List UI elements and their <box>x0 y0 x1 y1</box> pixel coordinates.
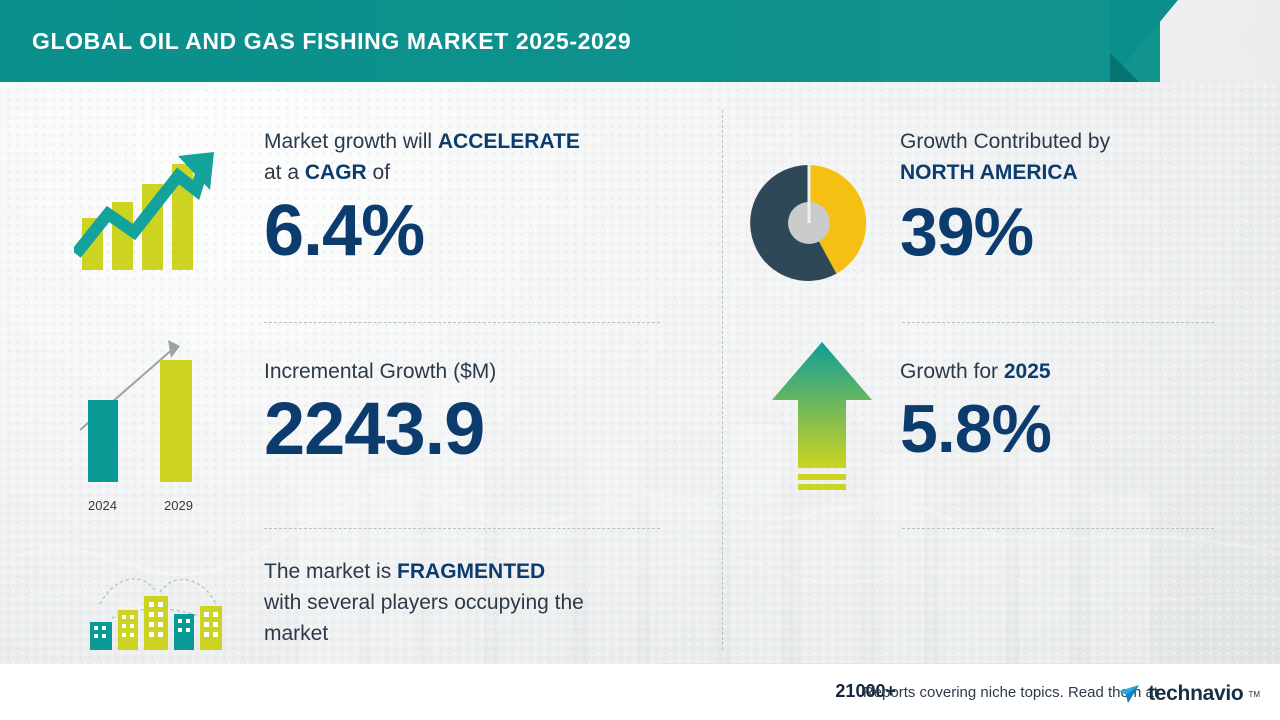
cagr-value: 6.4% <box>264 192 684 270</box>
cagr-line-2: at a CAGR of <box>264 157 684 188</box>
divider-right-2 <box>902 528 1214 529</box>
region-block: Growth Contributed by NORTH AMERICA 39% <box>900 126 1230 270</box>
growth-year-value: 5.8% <box>900 391 1230 467</box>
fragmented-line-1-bold: FRAGMENTED <box>397 560 545 583</box>
growth-year-line-1-pre: Growth for <box>900 360 1004 383</box>
fragmented-line-1: The market is FRAGMENTED <box>264 556 694 587</box>
fragmented-line-2: with several players occupying the <box>264 587 694 618</box>
cagr-line-1-pre: Market growth will <box>264 130 438 153</box>
region-donut-chart <box>748 162 870 284</box>
divider-left-1 <box>264 322 660 323</box>
region-value: 39% <box>900 194 1230 270</box>
footer-text: Reports covering niche topics. Read them… <box>863 684 1158 701</box>
technavio-trademark: TM <box>1248 690 1260 699</box>
incremental-growth-value: 2243.9 <box>264 387 684 471</box>
incremental-growth-label: Incremental Growth ($M) <box>264 356 684 387</box>
growth-year-block: Growth for 2025 5.8% <box>900 356 1230 467</box>
bar-label-start: 2024 <box>88 498 117 513</box>
fragmented-line-1-pre: The market is <box>264 560 397 583</box>
vertical-divider <box>722 110 723 650</box>
cagr-line-1: Market growth will ACCELERATE <box>264 126 684 157</box>
region-line-1: Growth Contributed by <box>900 126 1230 157</box>
header-fold <box>1110 53 1139 82</box>
fragmented-line-3: market <box>264 618 694 649</box>
infographic-page: GLOBAL OIL AND GAS FISHING MARKET 2025-2… <box>0 0 1280 720</box>
cagr-block: Market growth will ACCELERATE at a CAGR … <box>264 126 684 270</box>
page-title: GLOBAL OIL AND GAS FISHING MARKET 2025-2… <box>32 28 631 55</box>
growth-year-line-1: Growth for 2025 <box>900 356 1230 387</box>
incremental-growth-block: Incremental Growth ($M) 2243.9 <box>264 356 684 471</box>
fragmented-block: The market is FRAGMENTED with several pl… <box>264 556 694 649</box>
cagr-line-1-bold: ACCELERATE <box>438 130 580 153</box>
page-header: GLOBAL OIL AND GAS FISHING MARKET 2025-2… <box>0 0 1160 82</box>
cagr-line-2-post: of <box>367 161 390 184</box>
technavio-mark-icon <box>1117 682 1143 706</box>
region-line-2: NORTH AMERICA <box>900 157 1230 188</box>
growth-year-line-1-bold: 2025 <box>1004 360 1051 383</box>
fragmented-market-icon <box>78 566 238 656</box>
bar-label-end: 2029 <box>164 498 193 513</box>
growth-arrow-icon <box>768 338 876 500</box>
growth-chart-icon <box>74 150 234 280</box>
cagr-line-2-bold: CAGR <box>305 161 367 184</box>
cagr-line-2-pre: at a <box>264 161 305 184</box>
divider-right-1 <box>902 322 1214 323</box>
incremental-bars-icon <box>68 330 238 490</box>
technavio-brand-text: technavio <box>1148 682 1243 706</box>
technavio-logo[interactable]: technavio TM <box>1117 682 1260 706</box>
footer-divider <box>660 663 1280 664</box>
divider-left-2 <box>264 528 660 529</box>
page-footer: 21000+ Reports covering niche topics. Re… <box>0 664 1280 720</box>
